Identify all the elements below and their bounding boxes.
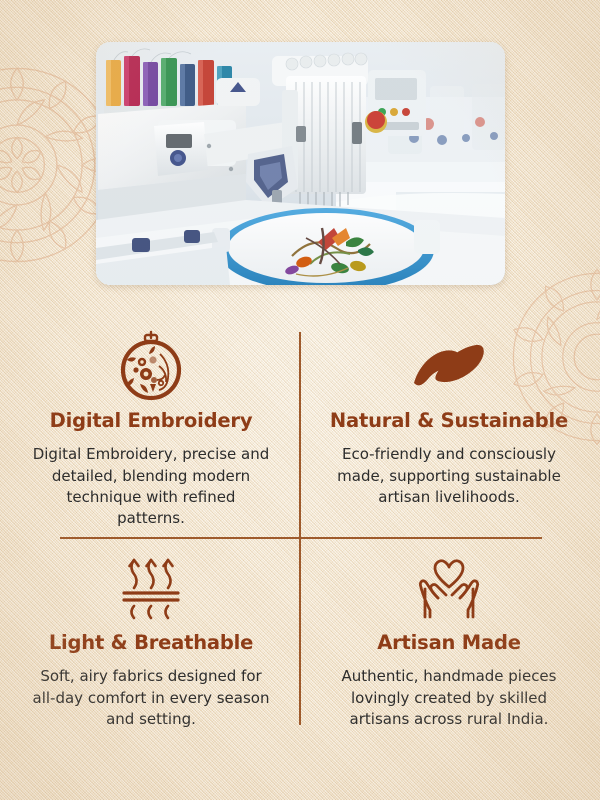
feature-card-light-breathable: Light & Breathable Soft, airy fabrics de…: [22, 550, 280, 730]
hands-holding-heart-icon: [320, 550, 578, 624]
feature-title: Digital Embroidery: [22, 410, 280, 432]
grid-divider-vertical: [299, 332, 301, 725]
feature-grid: Digital Embroidery Digital Embroidery, p…: [0, 318, 600, 748]
feature-highlights-page: Digital Embroidery Digital Embroidery, p…: [0, 0, 600, 800]
feature-description: Authentic, handmade pieces lovingly crea…: [330, 666, 568, 730]
feature-card-natural-sustainable: Natural & Sustainable Eco-friendly and c…: [320, 328, 578, 508]
feature-card-artisan-made: Artisan Made Authentic, handmade pieces …: [320, 550, 578, 730]
feature-description: Eco-friendly and consciously made, suppo…: [330, 444, 568, 508]
feature-title: Light & Breathable: [22, 632, 280, 654]
embroidery-hoop-icon: [22, 328, 280, 402]
feature-title: Natural & Sustainable: [320, 410, 578, 432]
feature-description: Digital Embroidery, precise and detailed…: [32, 444, 270, 529]
feature-title: Artisan Made: [320, 632, 578, 654]
embroidery-machine-photo: [96, 42, 505, 285]
feature-card-digital-embroidery: Digital Embroidery Digital Embroidery, p…: [22, 328, 280, 530]
feature-description: Soft, airy fabrics designed for all-day …: [32, 666, 270, 730]
hero-image-frame: [96, 42, 505, 285]
breathable-airflow-icon: [22, 550, 280, 624]
grid-divider-horizontal: [60, 537, 542, 539]
leaf-icon: [320, 328, 578, 402]
